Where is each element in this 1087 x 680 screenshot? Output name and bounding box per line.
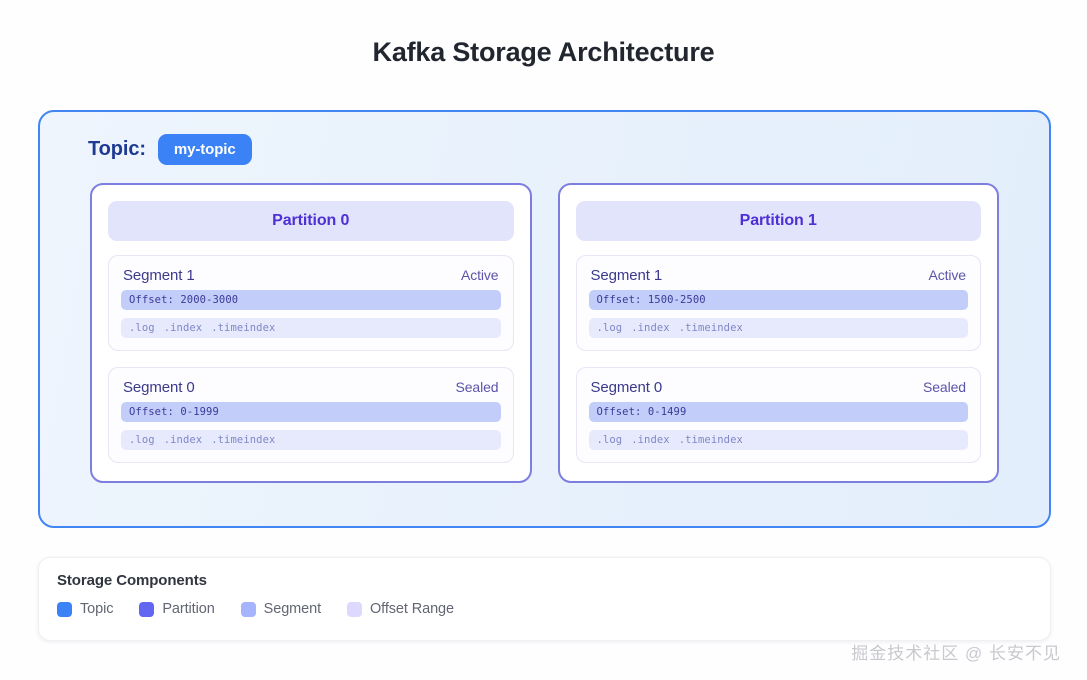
watermark: 掘金技术社区 @ 长安不见 [851, 639, 1061, 664]
partition-card: Partition 1 Segment 1 Active Offset: 150… [558, 183, 1000, 483]
segment-header: Segment 0 Sealed [589, 379, 969, 402]
offset-range-bar: Offset: 0-1499 [589, 402, 969, 422]
segment-card: Segment 1 Active Offset: 1500-2500 .log.… [576, 255, 982, 351]
legend-label-offset-range: Offset Range [370, 601, 454, 617]
topic-label: Topic: [88, 138, 146, 161]
file-ext-log: .log [129, 434, 155, 446]
file-ext-log: .log [597, 434, 623, 446]
partitions-row: Partition 0 Segment 1 Active Offset: 200… [64, 183, 1025, 483]
page-title: Kafka Storage Architecture [0, 0, 1087, 68]
partition-header: Partition 1 [576, 201, 982, 241]
file-ext-index: .index [631, 322, 670, 334]
topic-name-badge: my-topic [158, 134, 252, 165]
legend-swatch-partition [139, 602, 154, 617]
legend-swatch-topic [57, 602, 72, 617]
segment-status: Active [461, 267, 499, 283]
partition-header: Partition 0 [108, 201, 514, 241]
legend-item-topic: Topic [57, 601, 113, 617]
file-ext-log: .log [597, 322, 623, 334]
offset-range-bar: Offset: 2000-3000 [121, 290, 501, 310]
segment-status: Sealed [923, 379, 966, 395]
legend-label-segment: Segment [264, 601, 321, 617]
segment-header: Segment 1 Active [121, 267, 501, 290]
legend-item-segment: Segment [241, 601, 321, 617]
partition-card: Partition 0 Segment 1 Active Offset: 200… [90, 183, 532, 483]
segment-name: Segment 1 [591, 267, 663, 284]
segment-files-bar: .log.index.timeindex [589, 318, 969, 338]
file-ext-index: .index [164, 434, 203, 446]
legend-item-partition: Partition [139, 601, 214, 617]
legend-panel: Storage Components Topic Partition Segme… [38, 557, 1051, 641]
file-ext-timeindex: .timeindex [211, 322, 275, 334]
topic-container: Topic: my-topic Partition 0 Segment 1 Ac… [38, 110, 1051, 528]
segment-card: Segment 0 Sealed Offset: 0-1499 .log.ind… [576, 367, 982, 463]
segment-status: Sealed [456, 379, 499, 395]
file-ext-log: .log [129, 322, 155, 334]
file-ext-index: .index [164, 322, 203, 334]
file-ext-index: .index [631, 434, 670, 446]
segment-status: Active [928, 267, 966, 283]
segment-files-bar: .log.index.timeindex [121, 430, 501, 450]
segment-card: Segment 0 Sealed Offset: 0-1999 .log.ind… [108, 367, 514, 463]
file-ext-timeindex: .timeindex [679, 322, 743, 334]
legend-swatch-offset-range [347, 602, 362, 617]
legend-items: Topic Partition Segment Offset Range [57, 601, 1032, 617]
segment-name: Segment 0 [123, 379, 195, 396]
segment-header: Segment 1 Active [589, 267, 969, 290]
legend-title: Storage Components [57, 572, 1032, 589]
offset-range-bar: Offset: 1500-2500 [589, 290, 969, 310]
segment-files-bar: .log.index.timeindex [121, 318, 501, 338]
segment-name: Segment 1 [123, 267, 195, 284]
legend-swatch-segment [241, 602, 256, 617]
offset-range-bar: Offset: 0-1999 [121, 402, 501, 422]
segment-name: Segment 0 [591, 379, 663, 396]
file-ext-timeindex: .timeindex [679, 434, 743, 446]
file-ext-timeindex: .timeindex [211, 434, 275, 446]
topic-header: Topic: my-topic [64, 134, 1025, 165]
segment-header: Segment 0 Sealed [121, 379, 501, 402]
segment-files-bar: .log.index.timeindex [589, 430, 969, 450]
legend-item-offset-range: Offset Range [347, 601, 454, 617]
segment-card: Segment 1 Active Offset: 2000-3000 .log.… [108, 255, 514, 351]
legend-label-topic: Topic [80, 601, 113, 617]
diagram-page: Kafka Storage Architecture Topic: my-top… [0, 0, 1087, 680]
legend-label-partition: Partition [162, 601, 214, 617]
